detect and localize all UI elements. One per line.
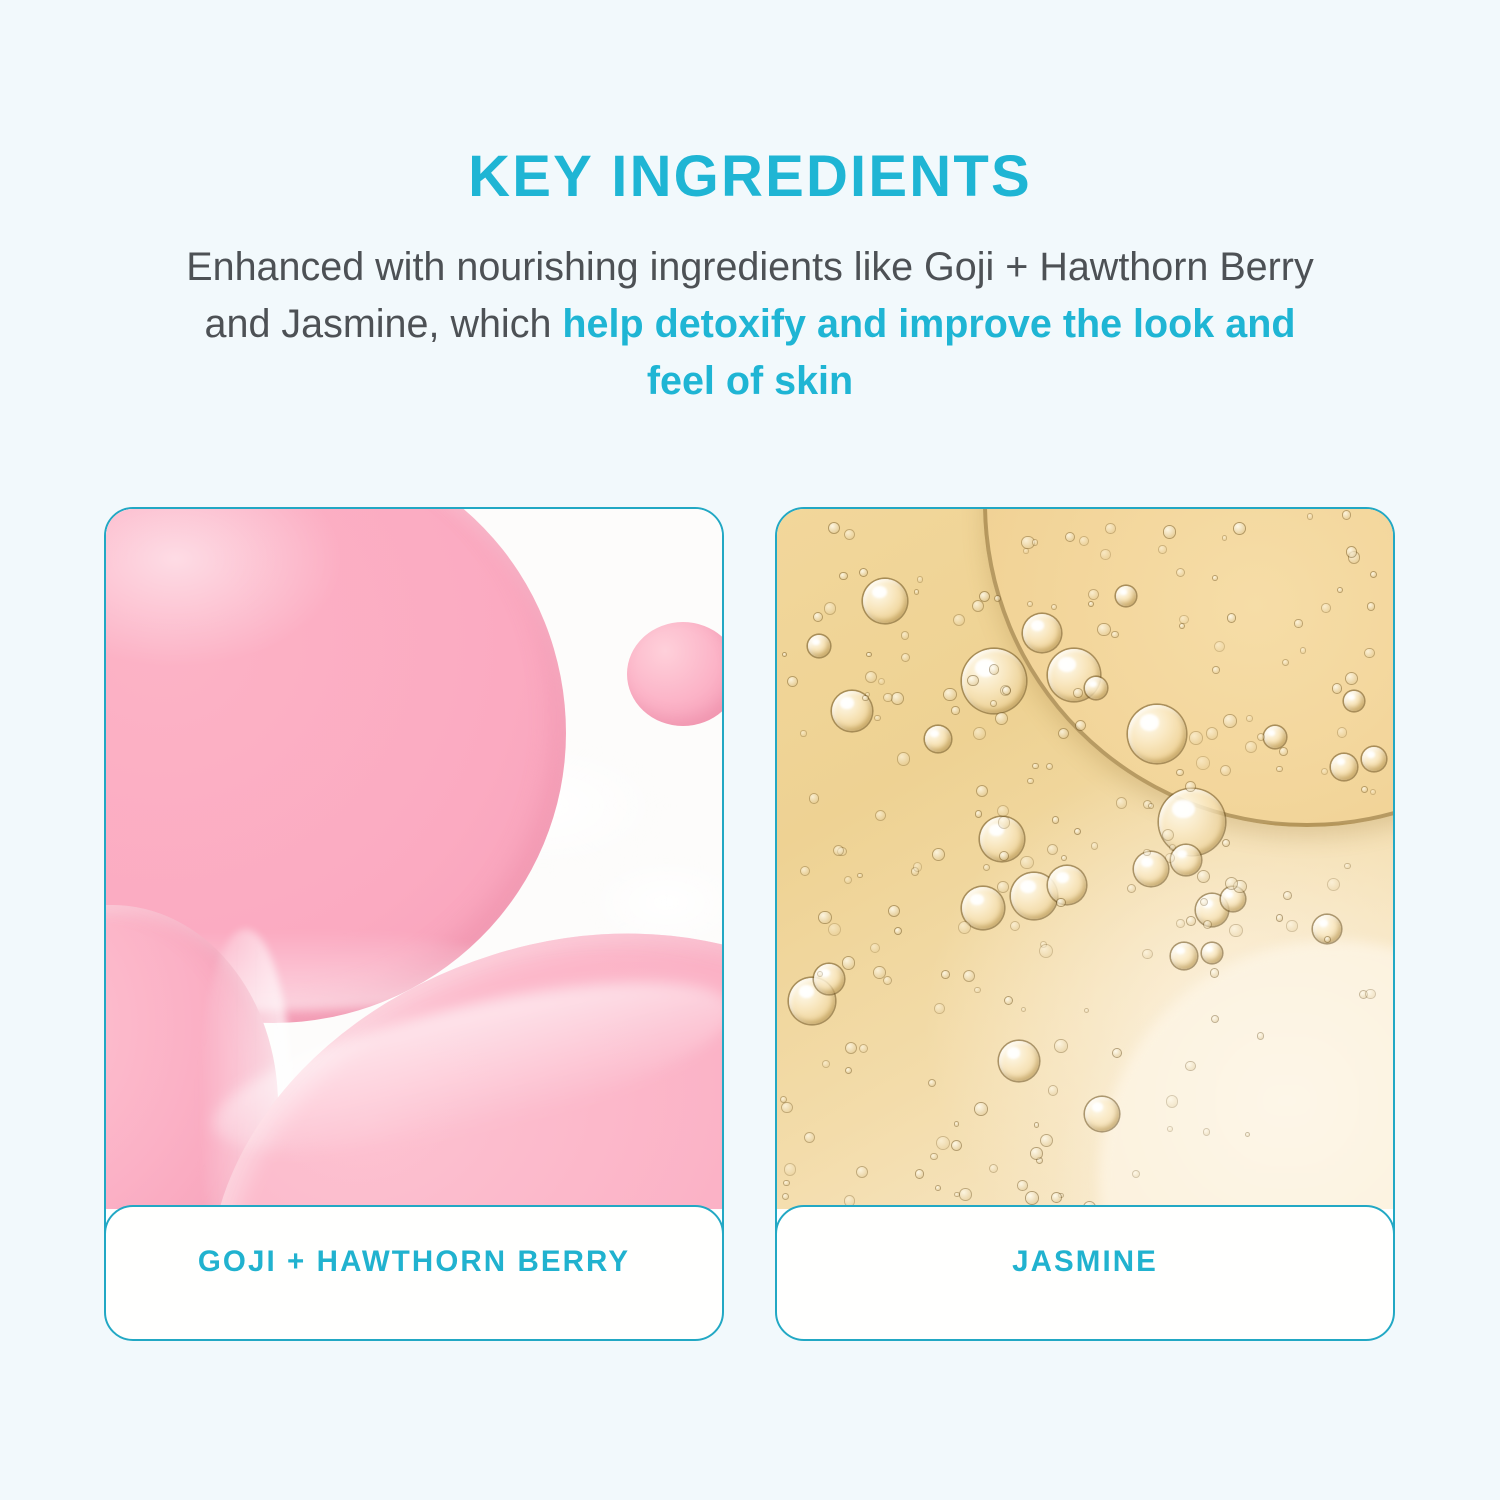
golden-bubble-micro: [977, 786, 987, 796]
golden-bubble-micro: [1371, 790, 1375, 794]
golden-bubble-micro: [955, 1193, 958, 1196]
golden-bubble-micro: [884, 694, 891, 701]
golden-bubble-micro: [1089, 602, 1093, 606]
golden-bubble-micro: [857, 1167, 868, 1178]
ingredient-card-jasmine[interactable]: JASMINE: [775, 507, 1395, 1341]
golden-bubble-micro: [1177, 770, 1182, 775]
golden-bubble-micro: [1040, 945, 1052, 957]
golden-bubble-micro: [1117, 798, 1127, 808]
golden-bubble-micro: [976, 811, 982, 817]
golden-bubble-micro: [1280, 748, 1287, 755]
golden-bubble: [1128, 705, 1186, 763]
golden-bubble-micro: [866, 672, 876, 682]
golden-bubble-micro: [805, 1133, 814, 1142]
golden-bubble-micro: [818, 972, 822, 976]
golden-bubble-micro: [1277, 767, 1281, 771]
golden-bubble-micro: [931, 1154, 937, 1160]
golden-bubble-micro: [1052, 605, 1056, 609]
golden-bubble-micro: [1021, 857, 1033, 869]
golden-bubble-micro: [916, 1170, 923, 1177]
golden-bubble-micro: [974, 728, 985, 739]
golden-bubble: [1171, 845, 1201, 875]
card-label-plate: JASMINE: [775, 1205, 1395, 1341]
golden-bubble-micro: [1047, 764, 1052, 769]
golden-bubble-micro: [846, 1043, 857, 1054]
golden-bubble-micro: [875, 716, 879, 720]
golden-bubble-micro: [1371, 572, 1376, 577]
golden-bubble-micro: [1101, 550, 1110, 559]
golden-bubble-micro: [996, 713, 1008, 725]
golden-bubble-micro: [1106, 524, 1115, 533]
golden-bubble-micro: [819, 912, 830, 923]
golden-bubble-micro: [784, 1181, 788, 1185]
golden-bubble-micro: [998, 806, 1009, 817]
golden-bubble-micro: [1022, 1008, 1025, 1011]
golden-bubble-micro: [1149, 804, 1153, 808]
golden-bubble-micro: [1213, 667, 1219, 673]
golden-bubble-micro: [1197, 757, 1208, 768]
golden-bubble-micro: [840, 573, 846, 579]
golden-bubble-micro: [1055, 1040, 1067, 1052]
golden-bubble-micro: [1112, 632, 1117, 637]
golden-bubble-micro: [1338, 728, 1346, 736]
golden-oil-image: [777, 509, 1393, 1209]
golden-bubble: [1202, 943, 1222, 963]
golden-bubble-micro: [1283, 660, 1288, 665]
golden-bubble-micro: [1031, 1148, 1042, 1159]
ingredient-label: JASMINE: [1012, 1245, 1158, 1279]
golden-bubble-micro: [936, 1186, 940, 1190]
golden-bubble-micro: [1018, 1181, 1027, 1190]
golden-bubble-micro: [871, 944, 879, 952]
golden-bubble-micro: [1003, 687, 1010, 694]
golden-bubble-micro: [1228, 614, 1235, 621]
golden-bubble-micro: [954, 615, 965, 626]
golden-bubble-micro: [991, 701, 996, 706]
golden-bubble-micro: [1204, 1129, 1209, 1134]
golden-bubble-micro: [1168, 1127, 1172, 1131]
golden-bubble-micro: [1347, 547, 1356, 556]
golden-bubble-micro: [801, 867, 810, 876]
golden-bubble: [1085, 677, 1107, 699]
golden-bubble-micro: [1033, 764, 1037, 768]
golden-bubble-micro: [781, 1097, 786, 1102]
golden-bubble-micro: [783, 1194, 788, 1199]
golden-bubble-micro: [959, 922, 970, 933]
golden-bubble-micro: [914, 863, 921, 870]
golden-bubble-micro: [810, 794, 819, 803]
golden-bubble-micro: [1287, 921, 1296, 930]
golden-bubble: [1085, 1097, 1119, 1131]
golden-bubble-micro: [1026, 1192, 1038, 1204]
golden-bubble-micro: [1022, 537, 1033, 548]
golden-bubble-micro: [1075, 829, 1080, 834]
golden-bubble: [1134, 852, 1168, 886]
golden-bubble-micro: [788, 677, 797, 686]
golden-bubble-micro: [1198, 871, 1209, 882]
golden-bubble-micro: [1365, 649, 1373, 657]
golden-bubble-micro: [975, 988, 980, 993]
golden-bubble-micro: [1362, 787, 1367, 792]
golden-bubble-micro: [1343, 511, 1351, 519]
golden-bubble: [1344, 691, 1364, 711]
golden-bubble-micro: [1035, 1123, 1039, 1127]
golden-bubble-micro: [955, 1122, 958, 1125]
golden-bubble-micro: [1284, 892, 1291, 899]
golden-bubble-micro: [1041, 1135, 1052, 1146]
golden-bubble-micro: [860, 1045, 867, 1052]
golden-bubble-micro: [860, 569, 867, 576]
golden-bubble-micro: [858, 874, 862, 878]
golden-bubble-micro: [845, 877, 852, 884]
golden-bubble-micro: [1345, 864, 1350, 869]
golden-bubble-micro: [1308, 514, 1312, 518]
golden-bubble-micro: [1215, 642, 1224, 651]
golden-bubble-micro: [1059, 729, 1068, 738]
golden-bubble-micro: [1295, 620, 1301, 626]
golden-bubble-micro: [1092, 843, 1098, 849]
golden-bubble-micro: [1223, 840, 1229, 846]
golden-bubble-micro: [1143, 950, 1151, 958]
golden-bubble: [1116, 586, 1136, 606]
card-label-plate: GOJI + HAWTHORN BERRY: [104, 1205, 724, 1341]
golden-bubble-micro: [964, 971, 974, 981]
golden-bubble-micro: [1322, 769, 1327, 774]
golden-bubble-micro: [1113, 1049, 1121, 1057]
golden-bubble-micro: [1187, 917, 1195, 925]
golden-bubble-micro: [884, 977, 891, 984]
golden-bubble-micro: [929, 1080, 936, 1087]
golden-bubble-micro: [915, 590, 918, 593]
golden-bubble-micro: [1128, 885, 1135, 892]
golden-bubble: [1171, 943, 1197, 969]
golden-bubble: [1159, 789, 1225, 855]
golden-bubble-micro: [1247, 716, 1251, 720]
golden-bubble-micro: [1052, 1193, 1061, 1202]
golden-bubble-micro: [874, 967, 885, 978]
golden-bubble-micro: [1258, 734, 1264, 740]
golden-bubble-micro: [1024, 549, 1028, 553]
golden-bubble-micro: [889, 906, 899, 916]
golden-bubble-micro: [814, 613, 822, 621]
golden-bubble-micro: [1028, 779, 1033, 784]
golden-bubble-micro: [1074, 689, 1082, 697]
golden-bubble-micro: [1076, 721, 1085, 730]
golden-bubble-micro: [1049, 1086, 1058, 1095]
golden-bubble-micro: [1368, 603, 1375, 610]
golden-bubble-micro: [1230, 925, 1241, 936]
golden-bubble-micro: [975, 1103, 987, 1115]
golden-bubble-micro: [1098, 624, 1110, 636]
golden-bubble-micro: [1207, 728, 1218, 739]
page-title: KEY INGREDIENTS: [0, 0, 1500, 206]
golden-bubble-micro: [1366, 990, 1374, 998]
golden-bubble-micro: [984, 865, 989, 870]
golden-bubble-micro: [1186, 782, 1195, 791]
golden-bubble-micro: [845, 530, 855, 540]
golden-bubble-micro: [1133, 1171, 1139, 1177]
golden-bubble-micro: [1177, 569, 1184, 576]
golden-bubble-micro: [990, 1165, 997, 1172]
ingredient-label: GOJI + HAWTHORN BERRY: [198, 1245, 630, 1279]
golden-bubble-micro: [1166, 854, 1174, 862]
golden-bubble-micro: [1328, 879, 1339, 890]
golden-bubble-micro: [1224, 715, 1236, 727]
golden-bubble-micro: [1011, 922, 1019, 930]
golden-bubble-micro: [1258, 1033, 1263, 1038]
golden-bubble-micro: [1028, 602, 1032, 606]
golden-bubble-micro: [918, 577, 922, 581]
golden-bubble-micro: [1234, 523, 1245, 534]
golden-bubble-micro: [1213, 576, 1217, 580]
golden-bubble-micro: [935, 1004, 944, 1013]
golden-bubble: [1264, 726, 1286, 748]
golden-bubble-micro: [1000, 852, 1008, 860]
golden-bubble-micro: [1085, 1009, 1088, 1012]
golden-bubble: [814, 964, 844, 994]
golden-bubble-micro: [1186, 1062, 1194, 1070]
golden-bubble-micro: [876, 811, 885, 820]
golden-bubble-micro: [846, 1068, 851, 1073]
golden-bubble-micro: [1325, 937, 1330, 942]
golden-bubble-micro: [1053, 817, 1059, 823]
golden-bubble-micro: [1333, 684, 1341, 692]
golden-bubble-micro: [1221, 766, 1230, 775]
golden-bubble-micro: [1346, 673, 1357, 684]
golden-bubble-micro: [1322, 604, 1330, 612]
golden-bubble-micro: [1080, 537, 1088, 545]
golden-bubble-micro: [843, 957, 854, 968]
golden-bubble-micro: [1062, 856, 1066, 860]
golden-bubble-micro: [995, 596, 1000, 601]
golden-bubble-micro: [1177, 920, 1183, 926]
golden-bubble-micro: [1277, 915, 1282, 920]
golden-bubble-micro: [952, 1141, 961, 1150]
golden-bubble-micro: [1033, 540, 1038, 545]
golden-bubble-micro: [998, 882, 1008, 892]
golden-bubble-micro: [829, 523, 839, 533]
golden-bubble-micro: [1223, 536, 1226, 539]
golden-bubble-micro: [785, 1164, 796, 1175]
golden-bubble-micro: [879, 679, 884, 684]
golden-bubble-micro: [895, 928, 901, 934]
golden-bubble-micro: [999, 817, 1009, 827]
golden-bubble-micro: [1338, 588, 1342, 592]
golden-bubble-micro: [1211, 969, 1218, 976]
golden-bubble-micro: [863, 696, 867, 700]
golden-bubble-micro: [1180, 624, 1184, 628]
golden-bubble: [999, 1041, 1039, 1081]
golden-bubble-micro: [782, 1103, 792, 1113]
golden-bubble-micro: [973, 601, 984, 612]
golden-bubble-micro: [952, 707, 958, 713]
golden-bubble-micro: [898, 753, 909, 764]
golden-bubble-micro: [1212, 1016, 1218, 1022]
golden-bubble-cluster: [777, 509, 1393, 1209]
golden-bubble: [1023, 614, 1061, 652]
golden-bubble: [1362, 747, 1386, 771]
golden-bubble-micro: [1164, 526, 1175, 537]
golden-bubble-micro: [1057, 899, 1065, 907]
golden-bubble-micro: [1201, 899, 1207, 905]
golden-bubble-micro: [829, 924, 840, 935]
golden-bubble-micro: [1246, 742, 1256, 752]
golden-bubble-micro: [1048, 845, 1058, 855]
golden-bubble-micro: [937, 1137, 949, 1149]
golden-bubble-micro: [902, 654, 909, 661]
golden-bubble-micro: [1005, 997, 1012, 1004]
subcopy-highlight-text: help detoxify and improve the look and f…: [562, 302, 1295, 403]
golden-bubble-micro: [1301, 648, 1306, 653]
golden-bubble-micro: [892, 693, 903, 704]
golden-bubble: [925, 726, 951, 752]
golden-bubble-micro: [980, 592, 989, 601]
golden-bubble: [1331, 754, 1357, 780]
golden-bubble-micro: [1180, 616, 1187, 623]
golden-bubble-micro: [933, 849, 944, 860]
golden-bubble-micro: [1066, 533, 1074, 541]
golden-bubble-micro: [1246, 1133, 1249, 1136]
golden-bubble-micro: [960, 1189, 971, 1200]
header-subcopy: Enhanced with nourishing ingredients lik…: [180, 206, 1320, 410]
golden-bubble-micro: [823, 1061, 829, 1067]
golden-bubble-micro: [801, 731, 805, 735]
golden-bubble-micro: [783, 653, 787, 657]
golden-bubble-micro: [1089, 590, 1098, 599]
golden-bubble: [808, 635, 830, 657]
golden-bubble-micro: [825, 603, 835, 613]
ingredient-cards: GOJI + HAWTHORN BERRY JASMINE: [104, 507, 1396, 1341]
golden-bubble-micro: [990, 665, 999, 674]
golden-bubble-micro: [1204, 921, 1211, 928]
golden-bubble: [863, 579, 907, 623]
header: KEY INGREDIENTS Enhanced with nourishing…: [0, 0, 1500, 410]
ingredient-card-goji-hawthorn-berry[interactable]: GOJI + HAWTHORN BERRY: [104, 507, 724, 1341]
golden-bubble-micro: [1190, 732, 1202, 744]
golden-bubble-micro: [867, 653, 870, 656]
golden-bubble-micro: [942, 971, 949, 978]
golden-bubble: [1048, 866, 1086, 904]
golden-bubble-micro: [944, 689, 955, 700]
golden-bubble-micro: [1159, 546, 1165, 552]
golden-bubble-micro: [1144, 850, 1150, 856]
golden-bubble-micro: [902, 632, 908, 638]
pink-oil-image: [106, 509, 722, 1209]
golden-bubble-micro: [1167, 1096, 1177, 1106]
